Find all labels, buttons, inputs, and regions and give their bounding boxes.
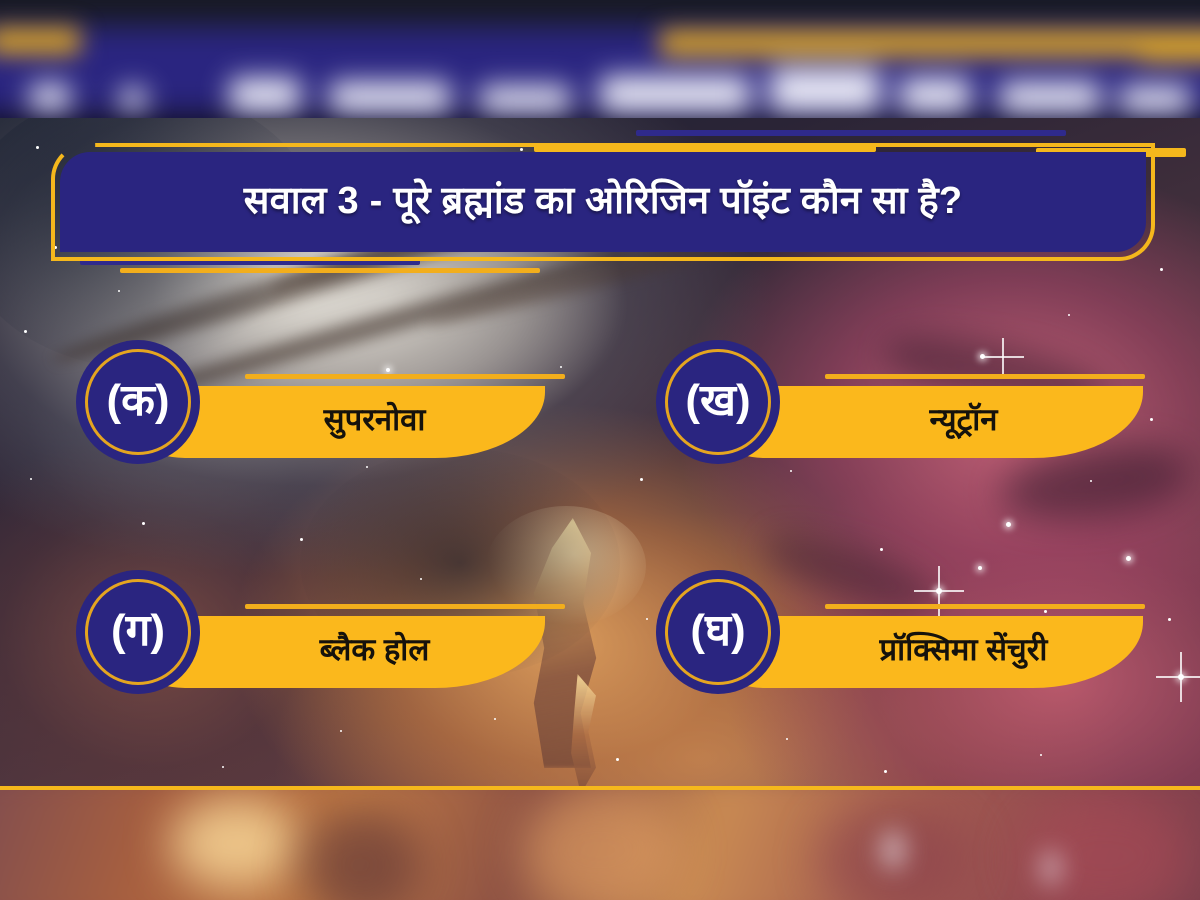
top-band-gold-accents <box>0 0 1200 118</box>
question-text: सवाल 3 - पूरे ब्रह्मांड का ओरिजिन पॉइंट … <box>244 182 963 222</box>
option-b-badge[interactable]: (ख) <box>656 340 780 464</box>
option-d-badge[interactable]: (घ) <box>656 570 780 694</box>
bottom-blurred-band <box>0 790 1200 900</box>
option-d-marker: (घ) <box>690 609 745 653</box>
option-a[interactable]: सुपरनोवा (क) <box>60 330 620 480</box>
banner-accent-gold-top <box>534 144 876 152</box>
option-c-marker: (ग) <box>111 609 165 653</box>
option-d-gold-line <box>825 604 1145 609</box>
question-banner: सवाल 3 - पूरे ब्रह्मांड का ओरिजिन पॉइंट … <box>60 152 1146 252</box>
option-a-label: सुपरनोवा <box>324 403 426 437</box>
quiz-card: सवाल 3 - पूरे ब्रह्मांड का ओरिजिन पॉइंट … <box>0 0 1200 900</box>
option-a-marker: (क) <box>106 379 169 423</box>
option-b-label: न्यूट्रॉन <box>930 403 998 437</box>
option-b-gold-line <box>825 374 1145 379</box>
option-a-badge[interactable]: (क) <box>76 340 200 464</box>
banner-accent-gold-below <box>120 268 540 273</box>
top-blurred-band <box>0 0 1200 118</box>
option-c-badge[interactable]: (ग) <box>76 570 200 694</box>
option-d-label: प्रॉक्सिमा सेंचुरी <box>880 633 1048 667</box>
option-d[interactable]: प्रॉक्सिमा सेंचुरी (घ) <box>640 560 1200 710</box>
option-c[interactable]: ब्लैक होल (ग) <box>60 560 620 710</box>
option-b[interactable]: न्यूट्रॉन (ख) <box>640 330 1200 480</box>
banner-accent-navy-top <box>636 130 1066 136</box>
option-a-gold-line <box>245 374 565 379</box>
banner-accent-navy-below <box>80 258 420 265</box>
option-c-gold-line <box>245 604 565 609</box>
option-c-label: ब्लैक होल <box>320 633 430 667</box>
option-b-marker: (ख) <box>685 379 750 423</box>
